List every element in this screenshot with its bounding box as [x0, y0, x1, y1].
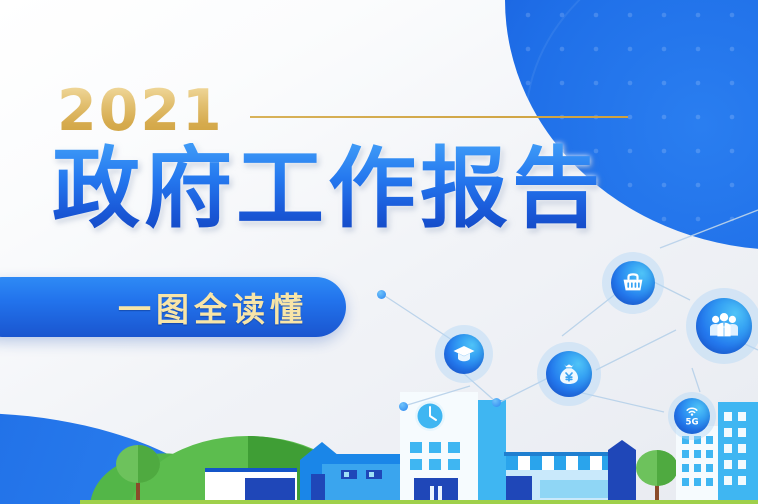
money-bag-yuan-icon: [555, 360, 583, 388]
5g-signal-icon: 5G: [680, 404, 704, 428]
network-node-connectivity[interactable]: 5G: [668, 392, 716, 440]
page-title: 政府工作报告: [52, 143, 604, 235]
network-node-finance[interactable]: [537, 342, 601, 406]
network-dot-node: [492, 398, 501, 407]
year-text: 2021: [57, 83, 224, 140]
year-row: 2021: [57, 83, 628, 140]
network-node-shopping[interactable]: [602, 252, 664, 314]
storefront: [504, 440, 636, 504]
svg-text:5G: 5G: [685, 417, 698, 427]
network-dot-node: [399, 402, 408, 411]
blue-house: [300, 442, 400, 504]
network-node-education[interactable]: [435, 325, 493, 383]
network-node-people[interactable]: [686, 288, 758, 364]
gold-divider-rule: [250, 116, 628, 118]
graduation-cap-icon: [452, 342, 476, 366]
people-group-icon: [707, 309, 741, 343]
city-illustration: [0, 354, 758, 504]
clock-tower: [400, 392, 506, 504]
badge-label: 一图全读懂: [118, 283, 308, 331]
grass-strip: [80, 500, 758, 504]
apartment-block: [718, 402, 758, 504]
shopping-basket-icon: [620, 270, 646, 296]
poster-canvas: 5G 2021 政府工作报告 一图全读懂: [0, 0, 758, 504]
warehouse: [205, 468, 297, 504]
network-dot-node: [377, 290, 386, 299]
read-at-a-glance-badge[interactable]: 一图全读懂: [0, 277, 346, 337]
